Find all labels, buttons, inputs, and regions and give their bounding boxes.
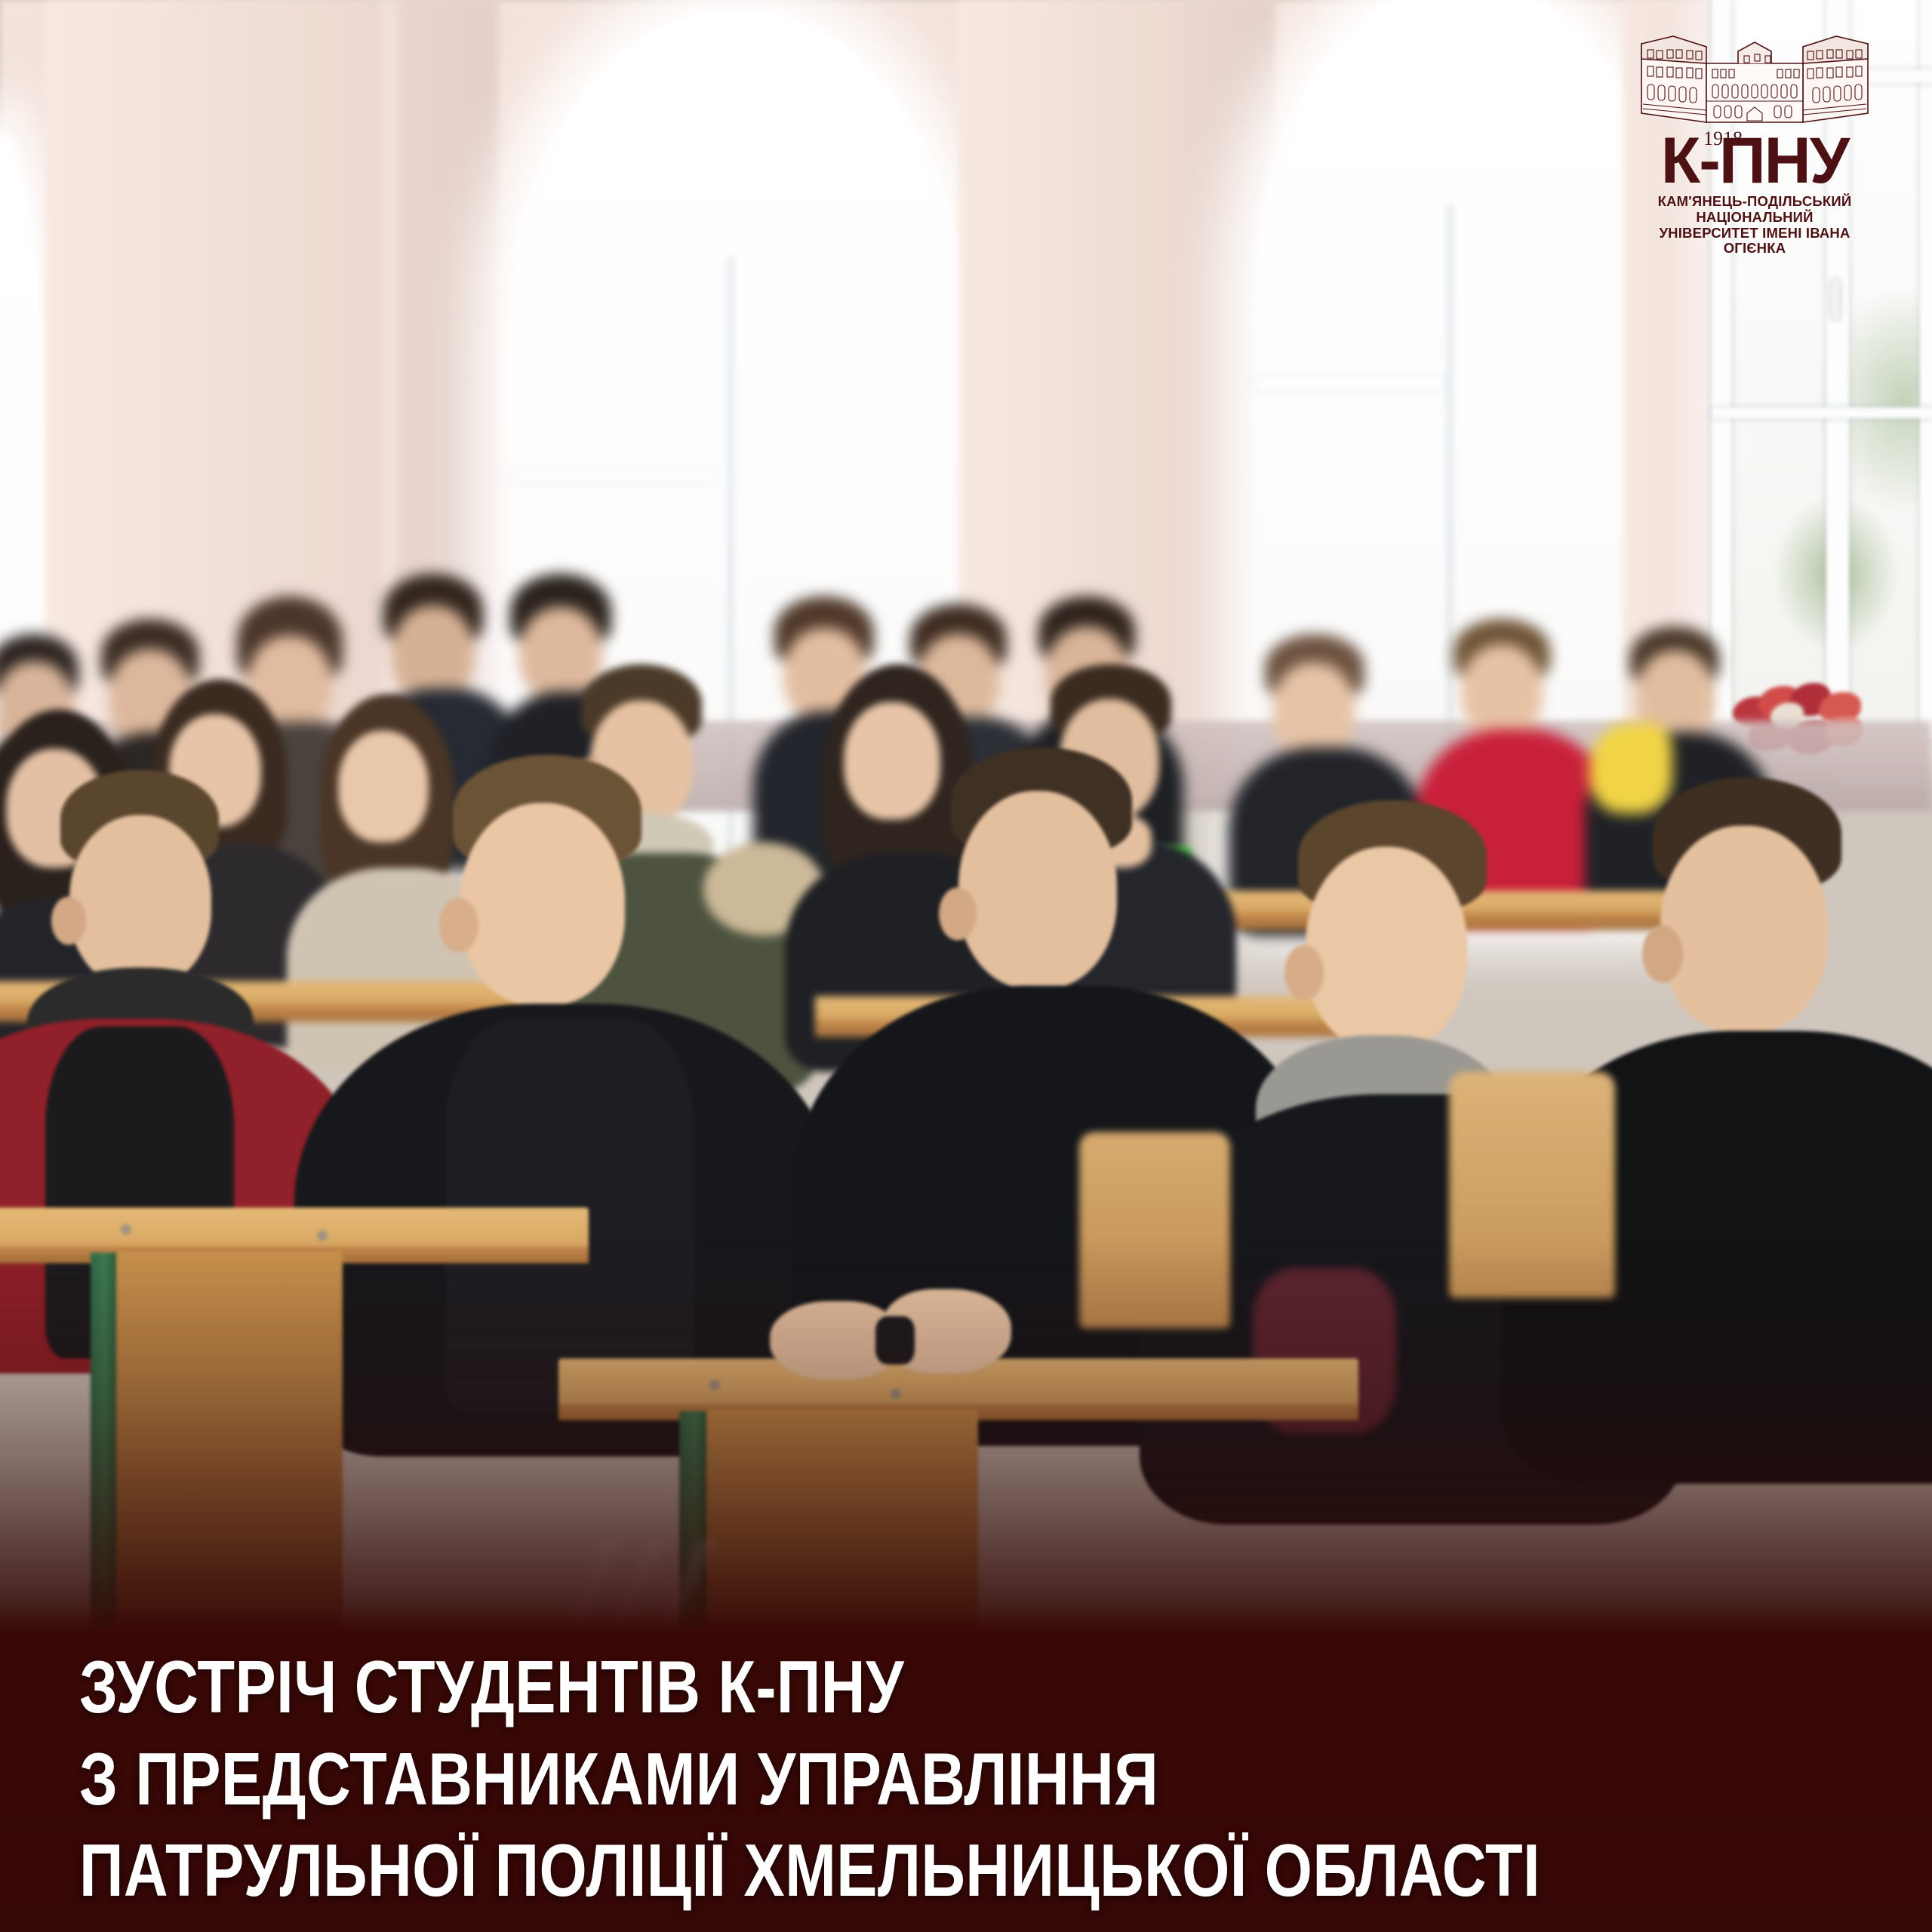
banner-line-1: ЗУСТРІЧ СТУДЕНТІВ К-ПНУ (79, 1641, 1533, 1734)
logo-acronym: К-ПНУ 1918 (1634, 131, 1875, 191)
university-building-icon (1634, 17, 1875, 130)
logo-acronym-text: К-ПНУ (1661, 125, 1849, 197)
poster-root: ЗУСТРІЧ СТУДЕНТІВ К-ПНУ З ПРЕДСТАВНИКАМИ… (0, 0, 1932, 1932)
banner-title-block: ЗУСТРІЧ СТУДЕНТІВ К-ПНУ З ПРЕДСТАВНИКАМИ… (79, 1641, 1533, 1917)
logo-subtitle-line-1: КАМ'ЯНЕЦЬ-ПОДІЛЬСЬКИЙ НАЦІОНАЛЬНИЙ (1634, 194, 1875, 225)
banner-line-2: З ПРЕДСТАВНИКАМИ УПРАВЛІННЯ (79, 1734, 1533, 1826)
banner-line-3: ПАТРУЛЬНОЇ ПОЛІЦІЇ ХМЕЛЬНИЦЬКОЇ ОБЛАСТІ (79, 1825, 1533, 1917)
university-logo: К-ПНУ 1918 КАМ'ЯНЕЦЬ-ПОДІЛЬСЬКИЙ НАЦІОНА… (1634, 17, 1875, 213)
logo-subtitle-line-2: УНІВЕРСИТЕТ ІМЕНІ ІВАНА ОГІЄНКА (1634, 226, 1875, 257)
logo-year: 1918 (1703, 130, 1743, 148)
